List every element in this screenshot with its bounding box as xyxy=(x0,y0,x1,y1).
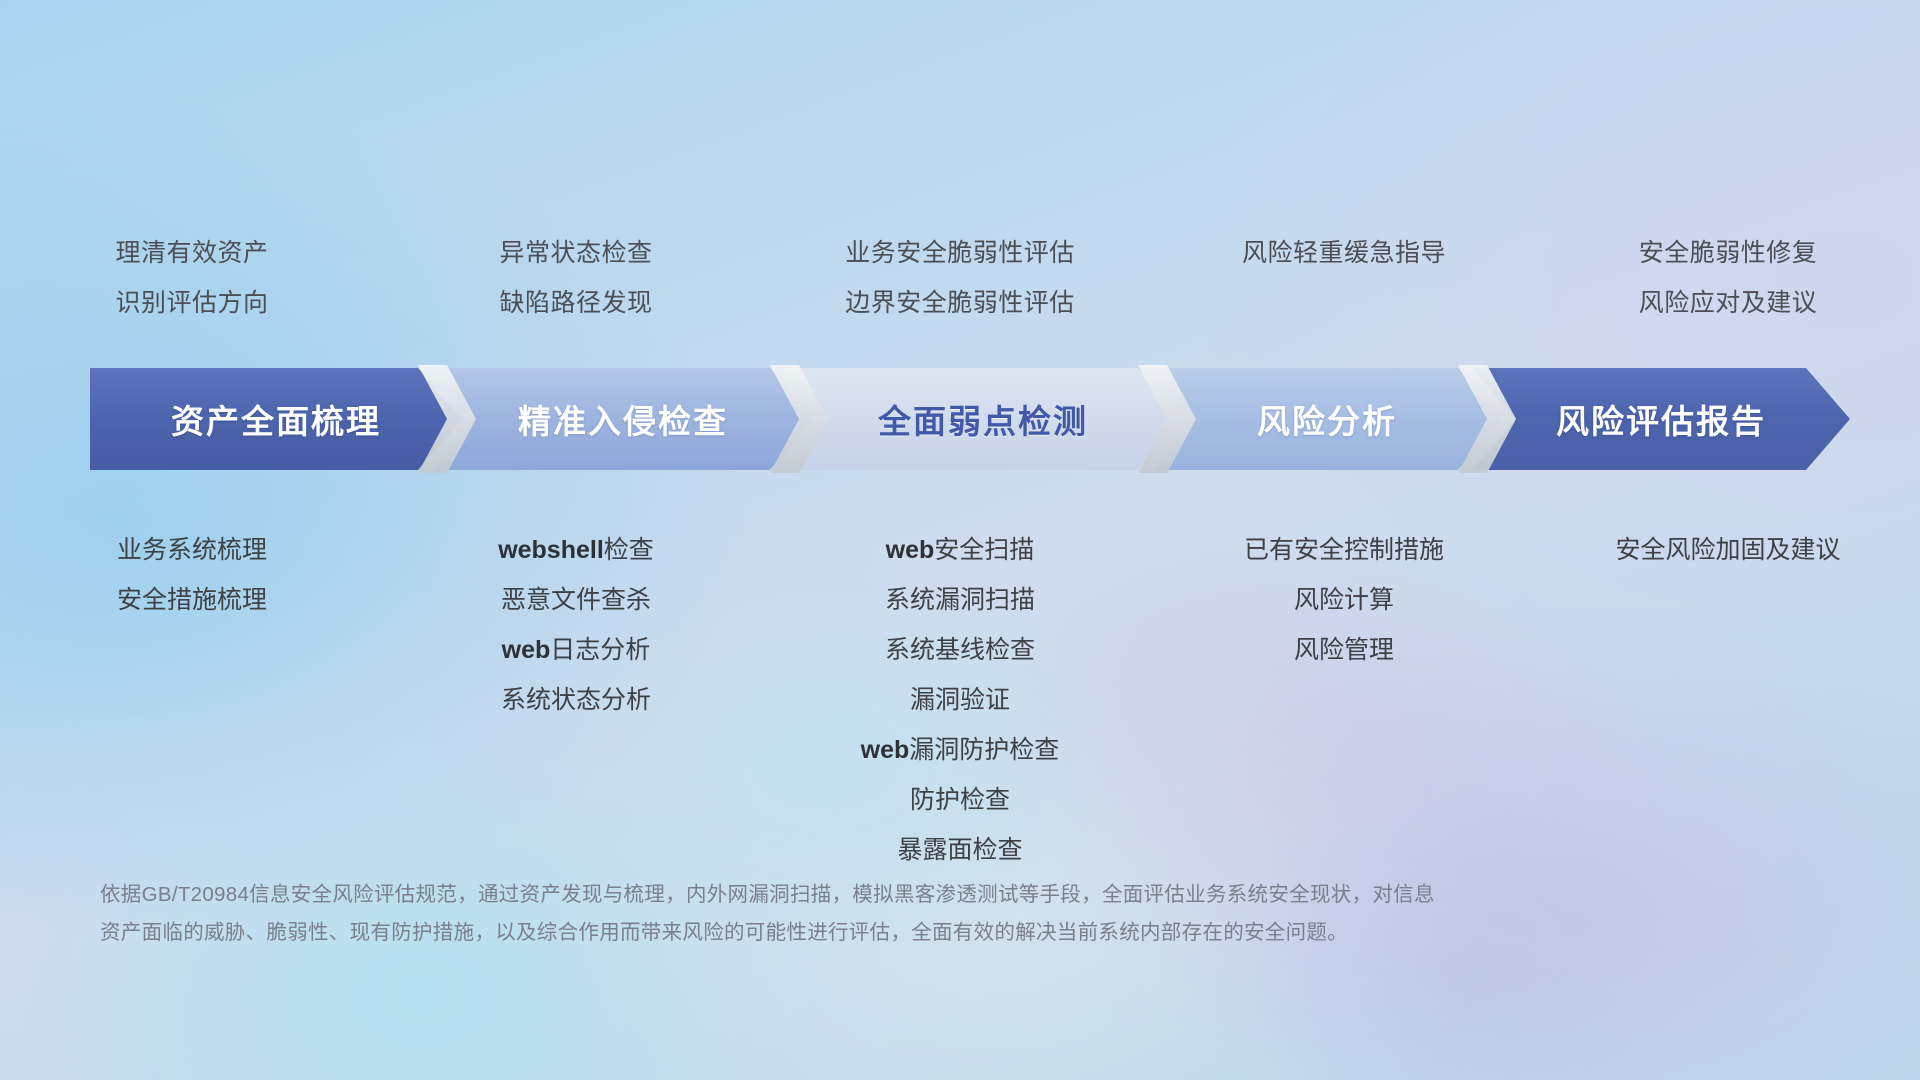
list-item: 风险管理 xyxy=(1152,625,1536,675)
top-label: 风险应对及建议 xyxy=(1536,278,1920,328)
top-label: 安全脆弱性修复 xyxy=(1536,228,1920,278)
top-label: 异常状态检查 xyxy=(384,228,768,278)
chevron-title: 风险评估报告 xyxy=(1556,395,1766,443)
top-label: 风险轻重缓急指导 xyxy=(1152,228,1536,278)
chevron-stage-1[interactable]: 资产全面梳理 xyxy=(90,368,462,470)
top-labels-col-5: 安全脆弱性修复 风险应对及建议 xyxy=(1536,228,1920,328)
list-item-text: 安全风险加固及建议 xyxy=(1615,536,1840,564)
list-item: 已有安全控制措施 xyxy=(1152,525,1536,575)
list-item-text: 漏洞防护检查 xyxy=(909,736,1059,764)
list-item-bold: web xyxy=(886,536,935,564)
list-item-text: 已有安全控制措施 xyxy=(1244,536,1444,564)
list-item-text: 业务系统梳理 xyxy=(117,536,267,564)
list-item-text: 风险计算 xyxy=(1294,586,1394,614)
chevron-title: 全面弱点检测 xyxy=(878,395,1088,443)
chevron-title: 资产全面梳理 xyxy=(171,395,381,443)
list-item-text: 暴露面检查 xyxy=(897,836,1022,864)
top-label: 边界安全脆弱性评估 xyxy=(768,278,1152,328)
list-item: 系统状态分析 xyxy=(384,675,768,725)
list-item-bold: webshell xyxy=(498,536,604,564)
list-item: 系统基线检查 xyxy=(768,625,1152,675)
footer-line-1: 依据GB/T20984信息安全风险评估规范，通过资产发现与梳理，内外网漏洞扫描，… xyxy=(100,876,1700,914)
list-item-text: 日志分析 xyxy=(550,636,650,664)
bottom-list-col-3: web安全扫描 系统漏洞扫描 系统基线检查 漏洞验证 web漏洞防护检查 防护检… xyxy=(768,525,1152,875)
list-item-bold: web xyxy=(861,736,910,764)
list-item-text: 漏洞验证 xyxy=(910,686,1010,714)
list-item: web日志分析 xyxy=(384,625,768,675)
top-labels-col-3: 业务安全脆弱性评估 边界安全脆弱性评估 xyxy=(768,228,1152,328)
top-label: 理清有效资产 xyxy=(0,228,384,278)
chevron-stage-3[interactable]: 全面弱点检测 xyxy=(784,368,1182,470)
list-item: 系统漏洞扫描 xyxy=(768,575,1152,625)
top-label: 识别评估方向 xyxy=(0,278,384,328)
list-item: 安全风险加固及建议 xyxy=(1536,525,1920,575)
list-item-text: 风险管理 xyxy=(1294,636,1394,664)
list-item-text: 安全扫描 xyxy=(934,536,1034,564)
list-item: 漏洞验证 xyxy=(768,675,1152,725)
bottom-list-col-4: 已有安全控制措施 风险计算 风险管理 xyxy=(1152,525,1536,875)
list-item: 安全措施梳理 xyxy=(0,575,384,625)
list-item: 业务系统梳理 xyxy=(0,525,384,575)
list-item-text: 检查 xyxy=(604,536,654,564)
chevron-title: 风险分析 xyxy=(1257,395,1397,443)
top-labels-row: 理清有效资产 识别评估方向 异常状态检查 缺陷路径发现 业务安全脆弱性评估 边界… xyxy=(0,228,1920,328)
list-item: 防护检查 xyxy=(768,775,1152,825)
list-item-text: 安全措施梳理 xyxy=(117,586,267,614)
top-label: 业务安全脆弱性评估 xyxy=(768,228,1152,278)
bottom-list-col-2: webshell检查 恶意文件查杀 web日志分析 系统状态分析 xyxy=(384,525,768,875)
list-item: 恶意文件查杀 xyxy=(384,575,768,625)
footer-description: 依据GB/T20984信息安全风险评估规范，通过资产发现与梳理，内外网漏洞扫描，… xyxy=(100,876,1700,952)
top-labels-col-1: 理清有效资产 识别评估方向 xyxy=(0,228,384,328)
list-item-text: 防护检查 xyxy=(910,786,1010,814)
top-labels-col-2: 异常状态检查 缺陷路径发现 xyxy=(384,228,768,328)
chevron-stage-2[interactable]: 精准入侵检查 xyxy=(432,368,814,470)
list-item: 暴露面检查 xyxy=(768,825,1152,875)
list-item-text: 系统漏洞扫描 xyxy=(885,586,1035,614)
chevron-title: 精准入侵检查 xyxy=(518,395,728,443)
list-item-text: 系统状态分析 xyxy=(501,686,651,714)
footer-line-2: 资产面临的威胁、脆弱性、现有防护措施，以及综合作用而带来风险的可能性进行评估，全… xyxy=(100,914,1700,952)
chevron-stage-5[interactable]: 风险评估报告 xyxy=(1472,368,1850,470)
list-item: web安全扫描 xyxy=(768,525,1152,575)
bottom-list-col-1: 业务系统梳理 安全措施梳理 xyxy=(0,525,384,875)
top-labels-col-4: 风险轻重缓急指导 xyxy=(1152,228,1536,328)
bottom-list-col-5: 安全风险加固及建议 xyxy=(1536,525,1920,875)
list-item: 风险计算 xyxy=(1152,575,1536,625)
process-chevron-band: 资产全面梳理 精准入侵检查 全面弱点检测 风险分析 xyxy=(90,368,1850,470)
list-item-bold: web xyxy=(502,636,551,664)
list-item: webshell检查 xyxy=(384,525,768,575)
top-label: 缺陷路径发现 xyxy=(384,278,768,328)
slide-canvas: 理清有效资产 识别评估方向 异常状态检查 缺陷路径发现 业务安全脆弱性评估 边界… xyxy=(0,0,1920,1080)
list-item-text: 恶意文件查杀 xyxy=(501,586,651,614)
bottom-lists-row: 业务系统梳理 安全措施梳理 webshell检查 恶意文件查杀 web日志分析 … xyxy=(0,525,1920,875)
chevron-stage-4[interactable]: 风险分析 xyxy=(1152,368,1502,470)
list-item-text: 系统基线检查 xyxy=(885,636,1035,664)
list-item: web漏洞防护检查 xyxy=(768,725,1152,775)
